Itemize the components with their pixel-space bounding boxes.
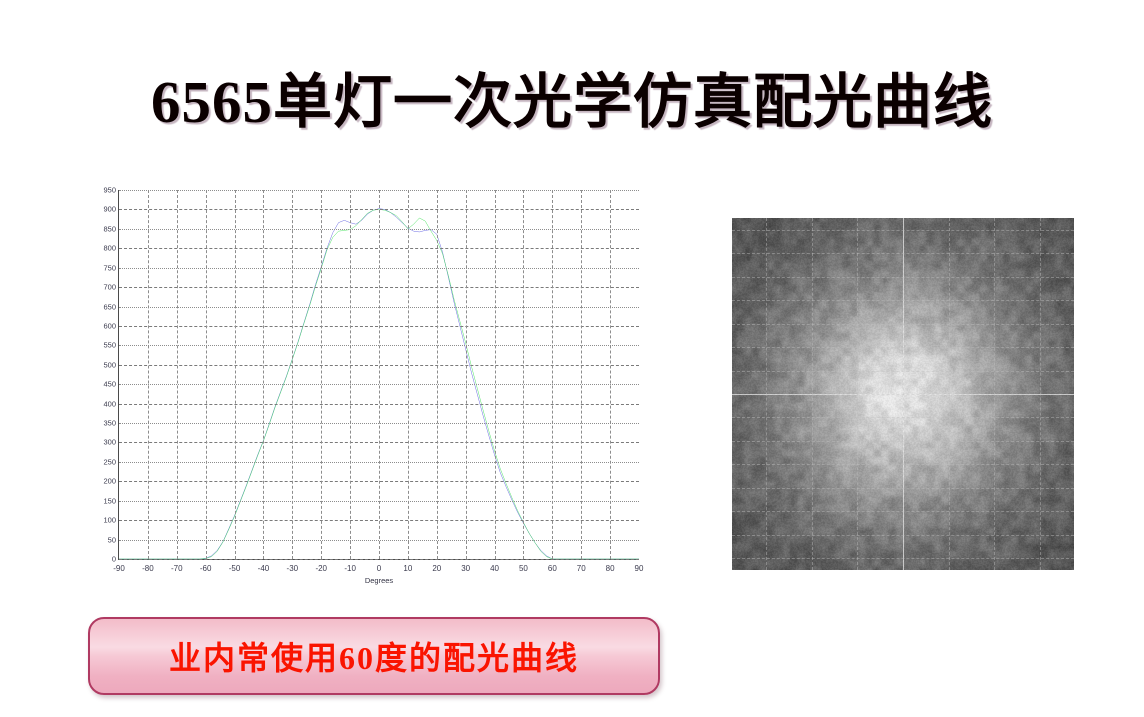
x-gridline <box>350 190 351 559</box>
y-axis-tick: 600 <box>103 321 119 330</box>
x-gridline <box>552 190 553 559</box>
x-axis-tick: -60 <box>200 559 212 573</box>
x-gridline <box>949 218 950 570</box>
x-gridline <box>994 218 995 570</box>
y-axis-tick: 100 <box>103 516 119 525</box>
x-gridline <box>581 190 582 559</box>
x-gridline <box>495 190 496 559</box>
y-axis-tick: 350 <box>103 419 119 428</box>
x-gridline <box>1040 218 1041 570</box>
x-gridline <box>857 218 858 570</box>
x-axis-tick: -80 <box>142 559 154 573</box>
y-axis-tick: 800 <box>103 244 119 253</box>
x-gridline <box>437 190 438 559</box>
x-axis-tick: 0 <box>377 559 381 573</box>
x-gridline <box>263 190 264 559</box>
x-gridline <box>292 190 293 559</box>
x-gridline <box>321 190 322 559</box>
x-axis-tick: 10 <box>403 559 412 573</box>
x-gridline <box>466 190 467 559</box>
y-axis-tick: 700 <box>103 283 119 292</box>
falsecolor-illuminance-map: X (millimeters) 700700600600500500400400… <box>696 192 1108 602</box>
x-gridline <box>206 190 207 559</box>
y-axis-tick: 450 <box>103 380 119 389</box>
intensity-distribution-chart: Degrees 05010015020025030035040045050055… <box>78 182 643 600</box>
y-axis-tick: 550 <box>103 341 119 350</box>
x-axis-tick: 70 <box>577 559 586 573</box>
x-gridline <box>379 190 380 559</box>
x-axis-tick: 80 <box>606 559 615 573</box>
x-axis-tick: 50 <box>519 559 528 573</box>
y-axis-tick: 850 <box>103 224 119 233</box>
x-axis-tick: 90 <box>635 559 644 573</box>
x-axis-tick: 60 <box>548 559 557 573</box>
y-axis-tick: 400 <box>103 399 119 408</box>
x-gridline <box>812 218 813 570</box>
x-axis-tick: -40 <box>258 559 270 573</box>
x-axis-tick: -10 <box>344 559 356 573</box>
x-gridline <box>766 218 767 570</box>
x-gridline <box>903 218 904 570</box>
y-axis-tick: 750 <box>103 263 119 272</box>
y-axis-tick: 650 <box>103 302 119 311</box>
page-title: 6565单灯一次光学仿真配光曲线 <box>0 54 1144 139</box>
callout-box: 业内常使用60度的配光曲线 <box>88 617 660 695</box>
x-gridline <box>177 190 178 559</box>
x-gridline <box>610 190 611 559</box>
x-axis-tick: 30 <box>461 559 470 573</box>
callout-text: 业内常使用60度的配光曲线 <box>169 633 579 679</box>
x-gridline <box>148 190 149 559</box>
x-axis-tick: 40 <box>490 559 499 573</box>
x-axis-tick: -50 <box>229 559 241 573</box>
y-axis-tick: 950 <box>103 186 119 195</box>
x-axis-tick: -70 <box>171 559 183 573</box>
x-axis-label: Degrees <box>119 576 639 585</box>
y-axis-tick: 500 <box>103 360 119 369</box>
falsecolor-image: X (millimeters) 700700600600500500400400… <box>732 218 1074 570</box>
x-axis-tick: 20 <box>432 559 441 573</box>
x-gridline <box>523 190 524 559</box>
x-axis-tick: -30 <box>287 559 299 573</box>
plot-area: Degrees 05010015020025030035040045050055… <box>118 190 639 560</box>
y-axis-tick: 200 <box>103 477 119 486</box>
x-gridline <box>408 190 409 559</box>
x-gridline <box>235 190 236 559</box>
y-axis-tick: 900 <box>103 205 119 214</box>
y-axis-tick: 300 <box>103 438 119 447</box>
y-axis-tick: 50 <box>108 535 119 544</box>
x-axis-tick: -90 <box>113 559 125 573</box>
y-axis-tick: 150 <box>103 496 119 505</box>
y-axis-tick: 250 <box>103 457 119 466</box>
x-axis-tick: -20 <box>315 559 327 573</box>
